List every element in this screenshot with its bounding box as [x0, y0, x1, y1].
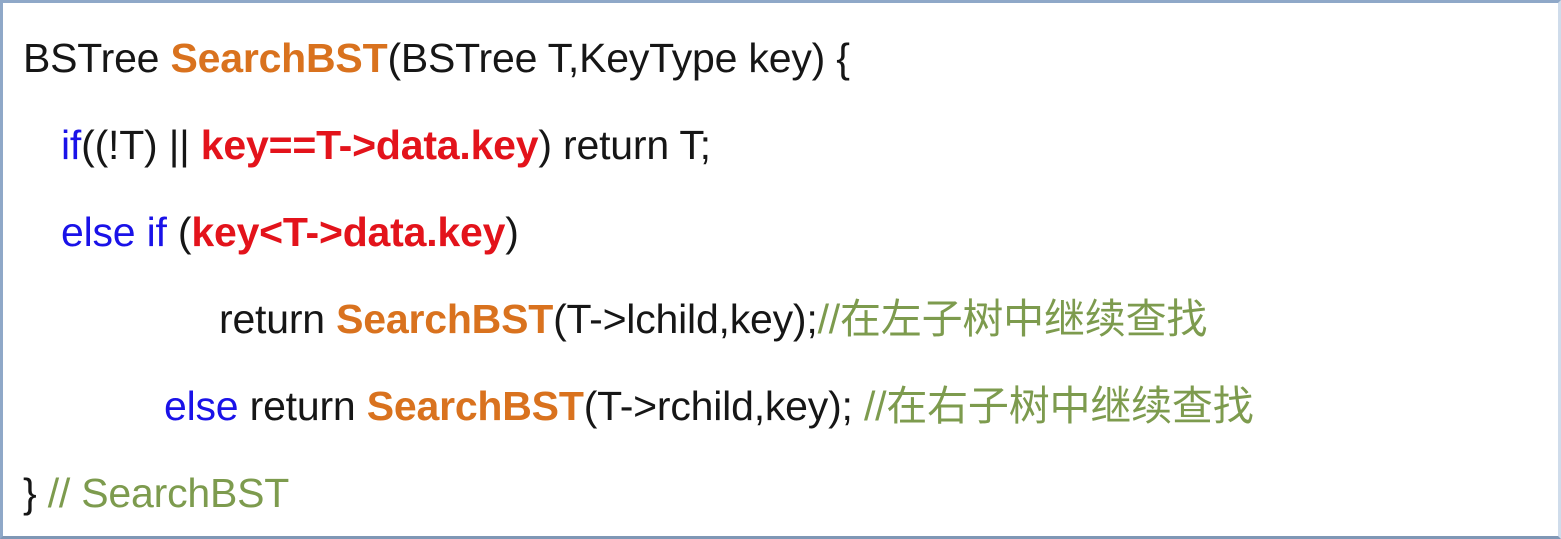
code-token-plain: ) return T; — [538, 122, 711, 168]
code-block[interactable]: BSTree SearchBST(BSTree T,KeyType key) {… — [3, 3, 1558, 536]
code-line: if((!T) || key==T->data.key) return T; — [3, 102, 1558, 189]
code-token-comment: //在右子树中继续查找 — [864, 383, 1254, 429]
code-token-cond: key<T->data.key — [191, 209, 505, 255]
code-token-plain: BSTree — [23, 35, 170, 81]
code-line: else if (key<T->data.key) — [3, 189, 1558, 276]
code-token-plain: ( — [178, 209, 191, 255]
code-token-kw: else if — [61, 209, 178, 255]
code-line: BSTree SearchBST(BSTree T,KeyType key) { — [3, 15, 1558, 102]
code-token-kw: if — [61, 122, 81, 168]
code-token-plain: (T->lchild,key); — [553, 296, 818, 342]
code-line: } // SearchBST — [3, 450, 1558, 537]
code-token-plain: ) — [505, 209, 518, 255]
code-line: return SearchBST(T->lchild,key);//在左子树中继… — [3, 276, 1558, 363]
code-token-fn: SearchBST — [170, 35, 387, 81]
code-token-comment: // SearchBST — [48, 470, 289, 516]
code-snippet-card: BSTree SearchBST(BSTree T,KeyType key) {… — [0, 0, 1561, 539]
code-token-plain: (BSTree T,KeyType key) { — [387, 35, 849, 81]
code-token-cond: key==T->data.key — [201, 122, 539, 168]
code-line: else return SearchBST(T->rchild,key); //… — [3, 363, 1558, 450]
code-token-fn: SearchBST — [336, 296, 553, 342]
code-token-kw: else — [164, 383, 238, 429]
code-token-fn: SearchBST — [367, 383, 584, 429]
code-token-plain: ((!T) || — [81, 122, 201, 168]
code-token-plain: (T->rchild,key); — [584, 383, 864, 429]
code-token-plain: return — [219, 296, 336, 342]
code-token-plain: } — [23, 470, 48, 516]
code-token-comment: //在左子树中继续查找 — [818, 296, 1208, 342]
code-token-plain: return — [238, 383, 366, 429]
